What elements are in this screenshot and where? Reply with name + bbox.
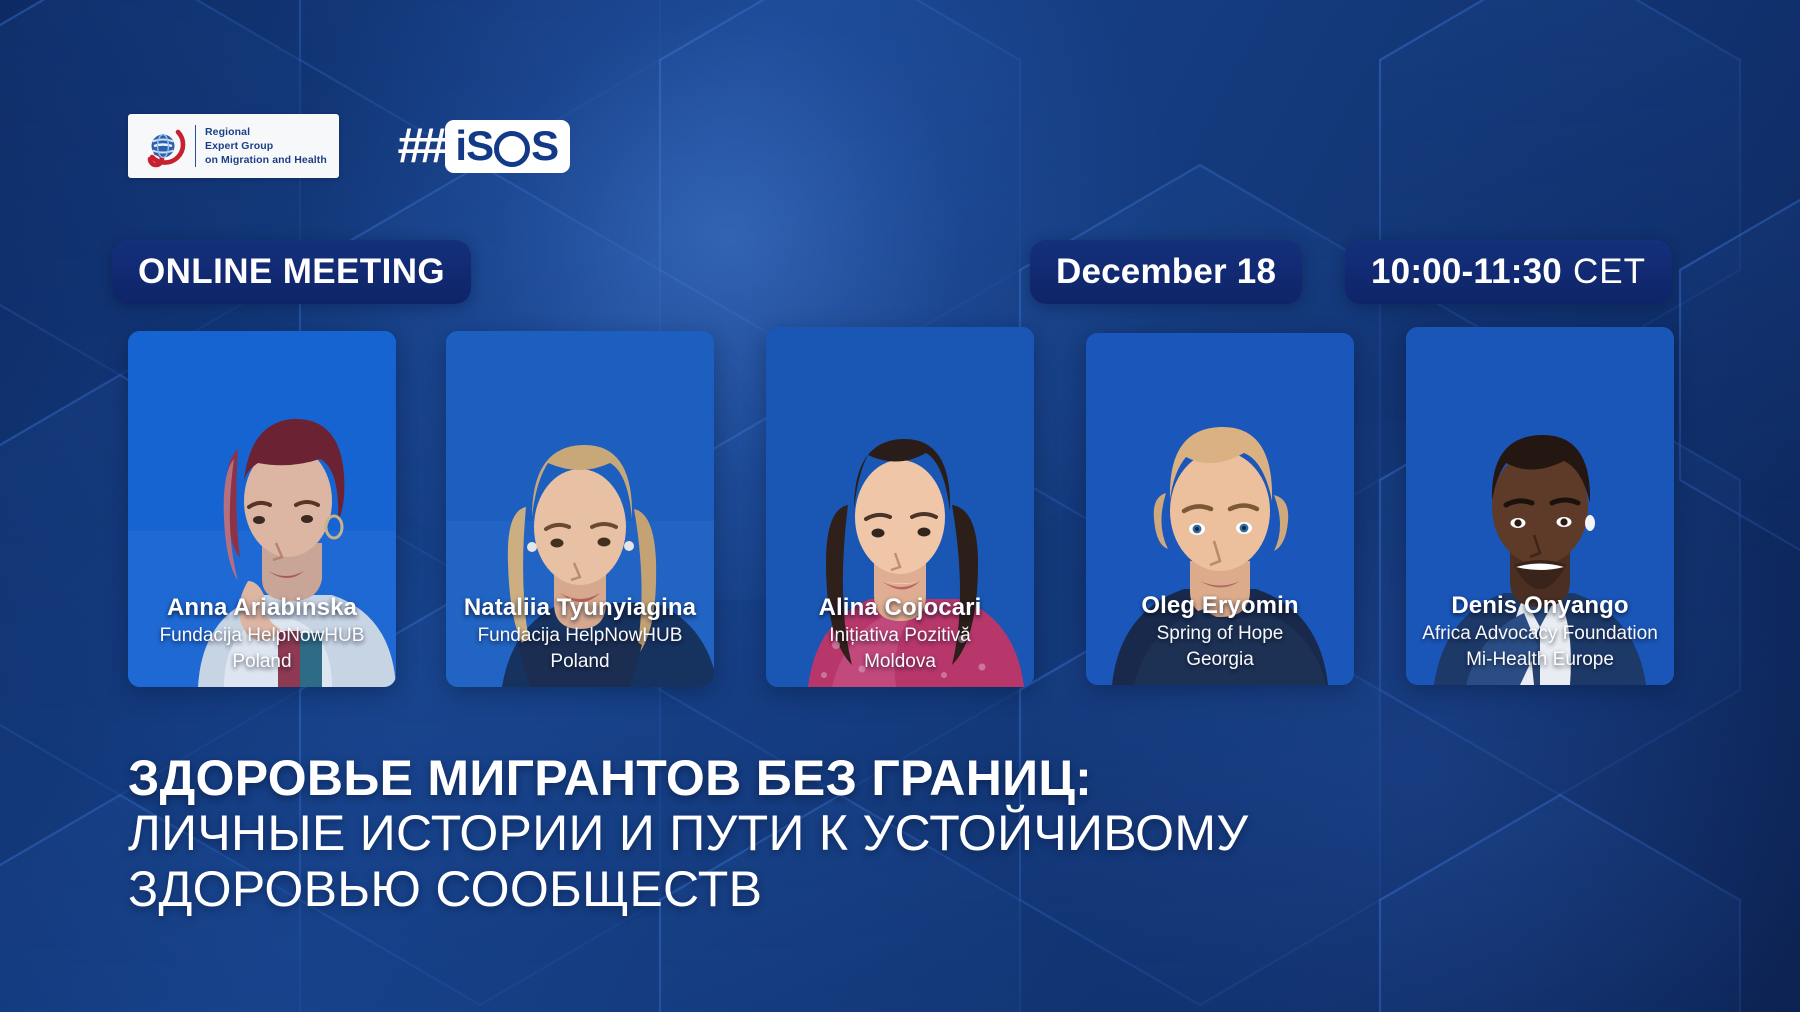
reg-logo-line-2: Expert Group bbox=[205, 139, 327, 153]
isos-wordmark-box: i S S bbox=[445, 120, 570, 173]
speaker-country: Poland bbox=[452, 651, 708, 673]
speaker-org: Africa Advocacy Foundation bbox=[1412, 623, 1668, 645]
speaker-caption: Alina Cojocari Inițiativa Pozitivă Moldo… bbox=[766, 595, 1034, 673]
isos-wordmark: i S S bbox=[455, 125, 558, 167]
speaker-name: Denis Onyango bbox=[1412, 593, 1668, 620]
speaker-country: Georgia bbox=[1092, 649, 1348, 671]
headline-block: ЗДОРОВЬЕ МИГРАНТОВ БЕЗ ГРАНИЦ: ЛИЧНЫЕ ИС… bbox=[128, 752, 1578, 917]
date-label: December 18 bbox=[1056, 252, 1276, 292]
speaker-org: Inițiativa Pozitivă bbox=[772, 625, 1028, 647]
isos-letter-o-ring bbox=[494, 131, 530, 167]
headline-line-1: ЗДОРОВЬЕ МИГРАНТОВ БЕЗ ГРАНИЦ: bbox=[128, 752, 1578, 805]
online-meeting-label: ONLINE MEETING bbox=[138, 252, 445, 292]
regional-expert-group-wordmark: Regional Expert Group on Migration and H… bbox=[195, 125, 327, 167]
headline-line-3: ЗДОРОВЬЮ СООБЩЕСТВ bbox=[128, 861, 1578, 917]
isos-letter-s2: S bbox=[531, 125, 558, 167]
timezone-label: CET bbox=[1573, 252, 1646, 292]
speaker-name: Nataliia Tyunyiagina bbox=[452, 595, 708, 622]
logo-row: Regional Expert Group on Migration and H… bbox=[128, 114, 570, 178]
date-badge: December 18 bbox=[1030, 240, 1302, 304]
speaker-caption: Nataliia Tyunyiagina Fundacija HelpNowHU… bbox=[446, 595, 714, 673]
isos-letter-s1: S bbox=[466, 125, 493, 167]
speaker-caption: Anna Ariabinska Fundacija HelpNowHUB Pol… bbox=[128, 595, 396, 673]
speaker-org: Fundacija HelpNowHUB bbox=[452, 625, 708, 647]
speaker-card-row: Anna Ariabinska Fundacija HelpNowHUB Pol… bbox=[0, 325, 1800, 695]
reg-logo-line-1: Regional bbox=[205, 125, 327, 139]
speaker-card: Alina Cojocari Inițiativa Pozitivă Moldo… bbox=[766, 327, 1034, 687]
speaker-card: Denis Onyango Africa Advocacy Foundation… bbox=[1406, 327, 1674, 685]
reg-logo-line-3: on Migration and Health bbox=[205, 153, 327, 167]
speaker-card: Nataliia Tyunyiagina Fundacija HelpNowHU… bbox=[446, 331, 714, 687]
speaker-name: Oleg Eryomin bbox=[1092, 593, 1348, 620]
isos-logo: ## i S S bbox=[397, 119, 570, 173]
isos-letter-i: i bbox=[455, 125, 466, 167]
speaker-card: Oleg Eryomin Spring of Hope Georgia bbox=[1086, 333, 1354, 685]
hash-icon: ## bbox=[397, 122, 442, 171]
speaker-country: Mi-Health Europe bbox=[1412, 649, 1668, 671]
speaker-card: Anna Ariabinska Fundacija HelpNowHUB Pol… bbox=[128, 331, 396, 687]
speaker-org: Spring of Hope bbox=[1092, 623, 1348, 645]
time-label: 10:00-11:30 bbox=[1371, 252, 1562, 292]
speaker-caption: Oleg Eryomin Spring of Hope Georgia bbox=[1086, 593, 1354, 671]
speaker-org: Fundacija HelpNowHUB bbox=[134, 625, 390, 647]
speaker-name: Alina Cojocari bbox=[772, 595, 1028, 622]
online-meeting-badge: ONLINE MEETING bbox=[112, 240, 471, 304]
speaker-name: Anna Ariabinska bbox=[134, 595, 390, 622]
time-badge: 10:00-11:30 CET bbox=[1345, 240, 1672, 304]
badge-row: ONLINE MEETING December 18 10:00-11:30 C… bbox=[0, 240, 1800, 304]
regional-expert-group-logo: Regional Expert Group on Migration and H… bbox=[128, 114, 339, 178]
promo-banner: Regional Expert Group on Migration and H… bbox=[0, 0, 1800, 1012]
speaker-caption: Denis Onyango Africa Advocacy Foundation… bbox=[1406, 593, 1674, 671]
headline-line-2: ЛИЧНЫЕ ИСТОРИИ И ПУТИ К УСТОЙЧИВОМУ bbox=[128, 805, 1578, 861]
globe-hands-icon bbox=[140, 123, 186, 169]
speaker-country: Poland bbox=[134, 651, 390, 673]
speaker-country: Moldova bbox=[772, 651, 1028, 673]
